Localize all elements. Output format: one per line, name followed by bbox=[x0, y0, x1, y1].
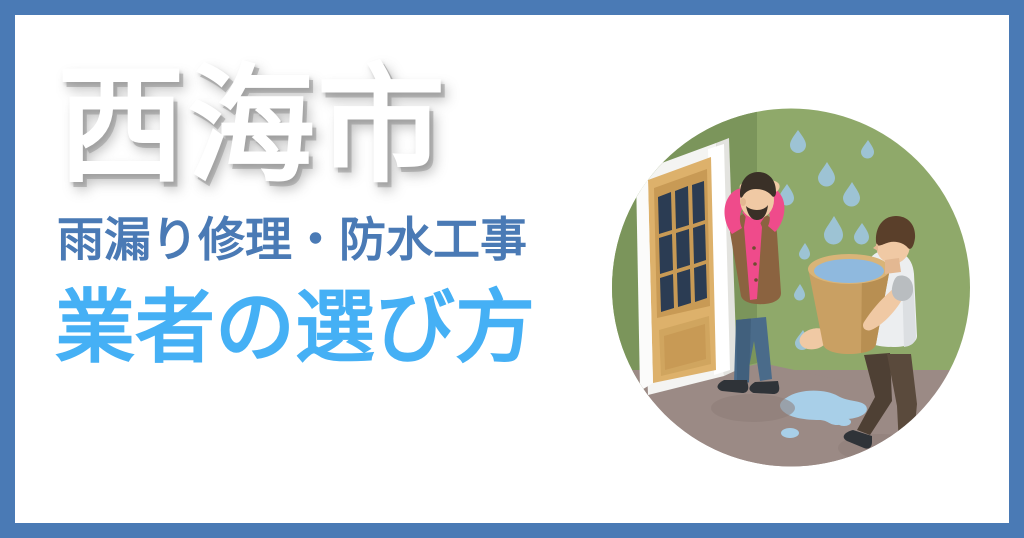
headline-text-block: 西海市 雨漏り修理・防水工事 業者の選び方 bbox=[53, 63, 613, 368]
scene-contents bbox=[612, 108, 970, 467]
roof-leak-illustration bbox=[612, 108, 970, 467]
bucket-water bbox=[814, 259, 884, 283]
service-subtitle: 雨漏り修理・防水工事 bbox=[57, 217, 613, 264]
banner-canvas: 西海市 雨漏り修理・防水工事 業者の選び方 bbox=[15, 15, 1009, 523]
tagline-heading: 業者の選び方 bbox=[55, 288, 613, 368]
shadow bbox=[711, 394, 795, 422]
banner-frame: 西海市 雨漏り修理・防水工事 業者の選び方 bbox=[0, 0, 1024, 538]
page-title: 西海市 bbox=[53, 63, 613, 191]
door-glass-panes bbox=[658, 181, 707, 312]
